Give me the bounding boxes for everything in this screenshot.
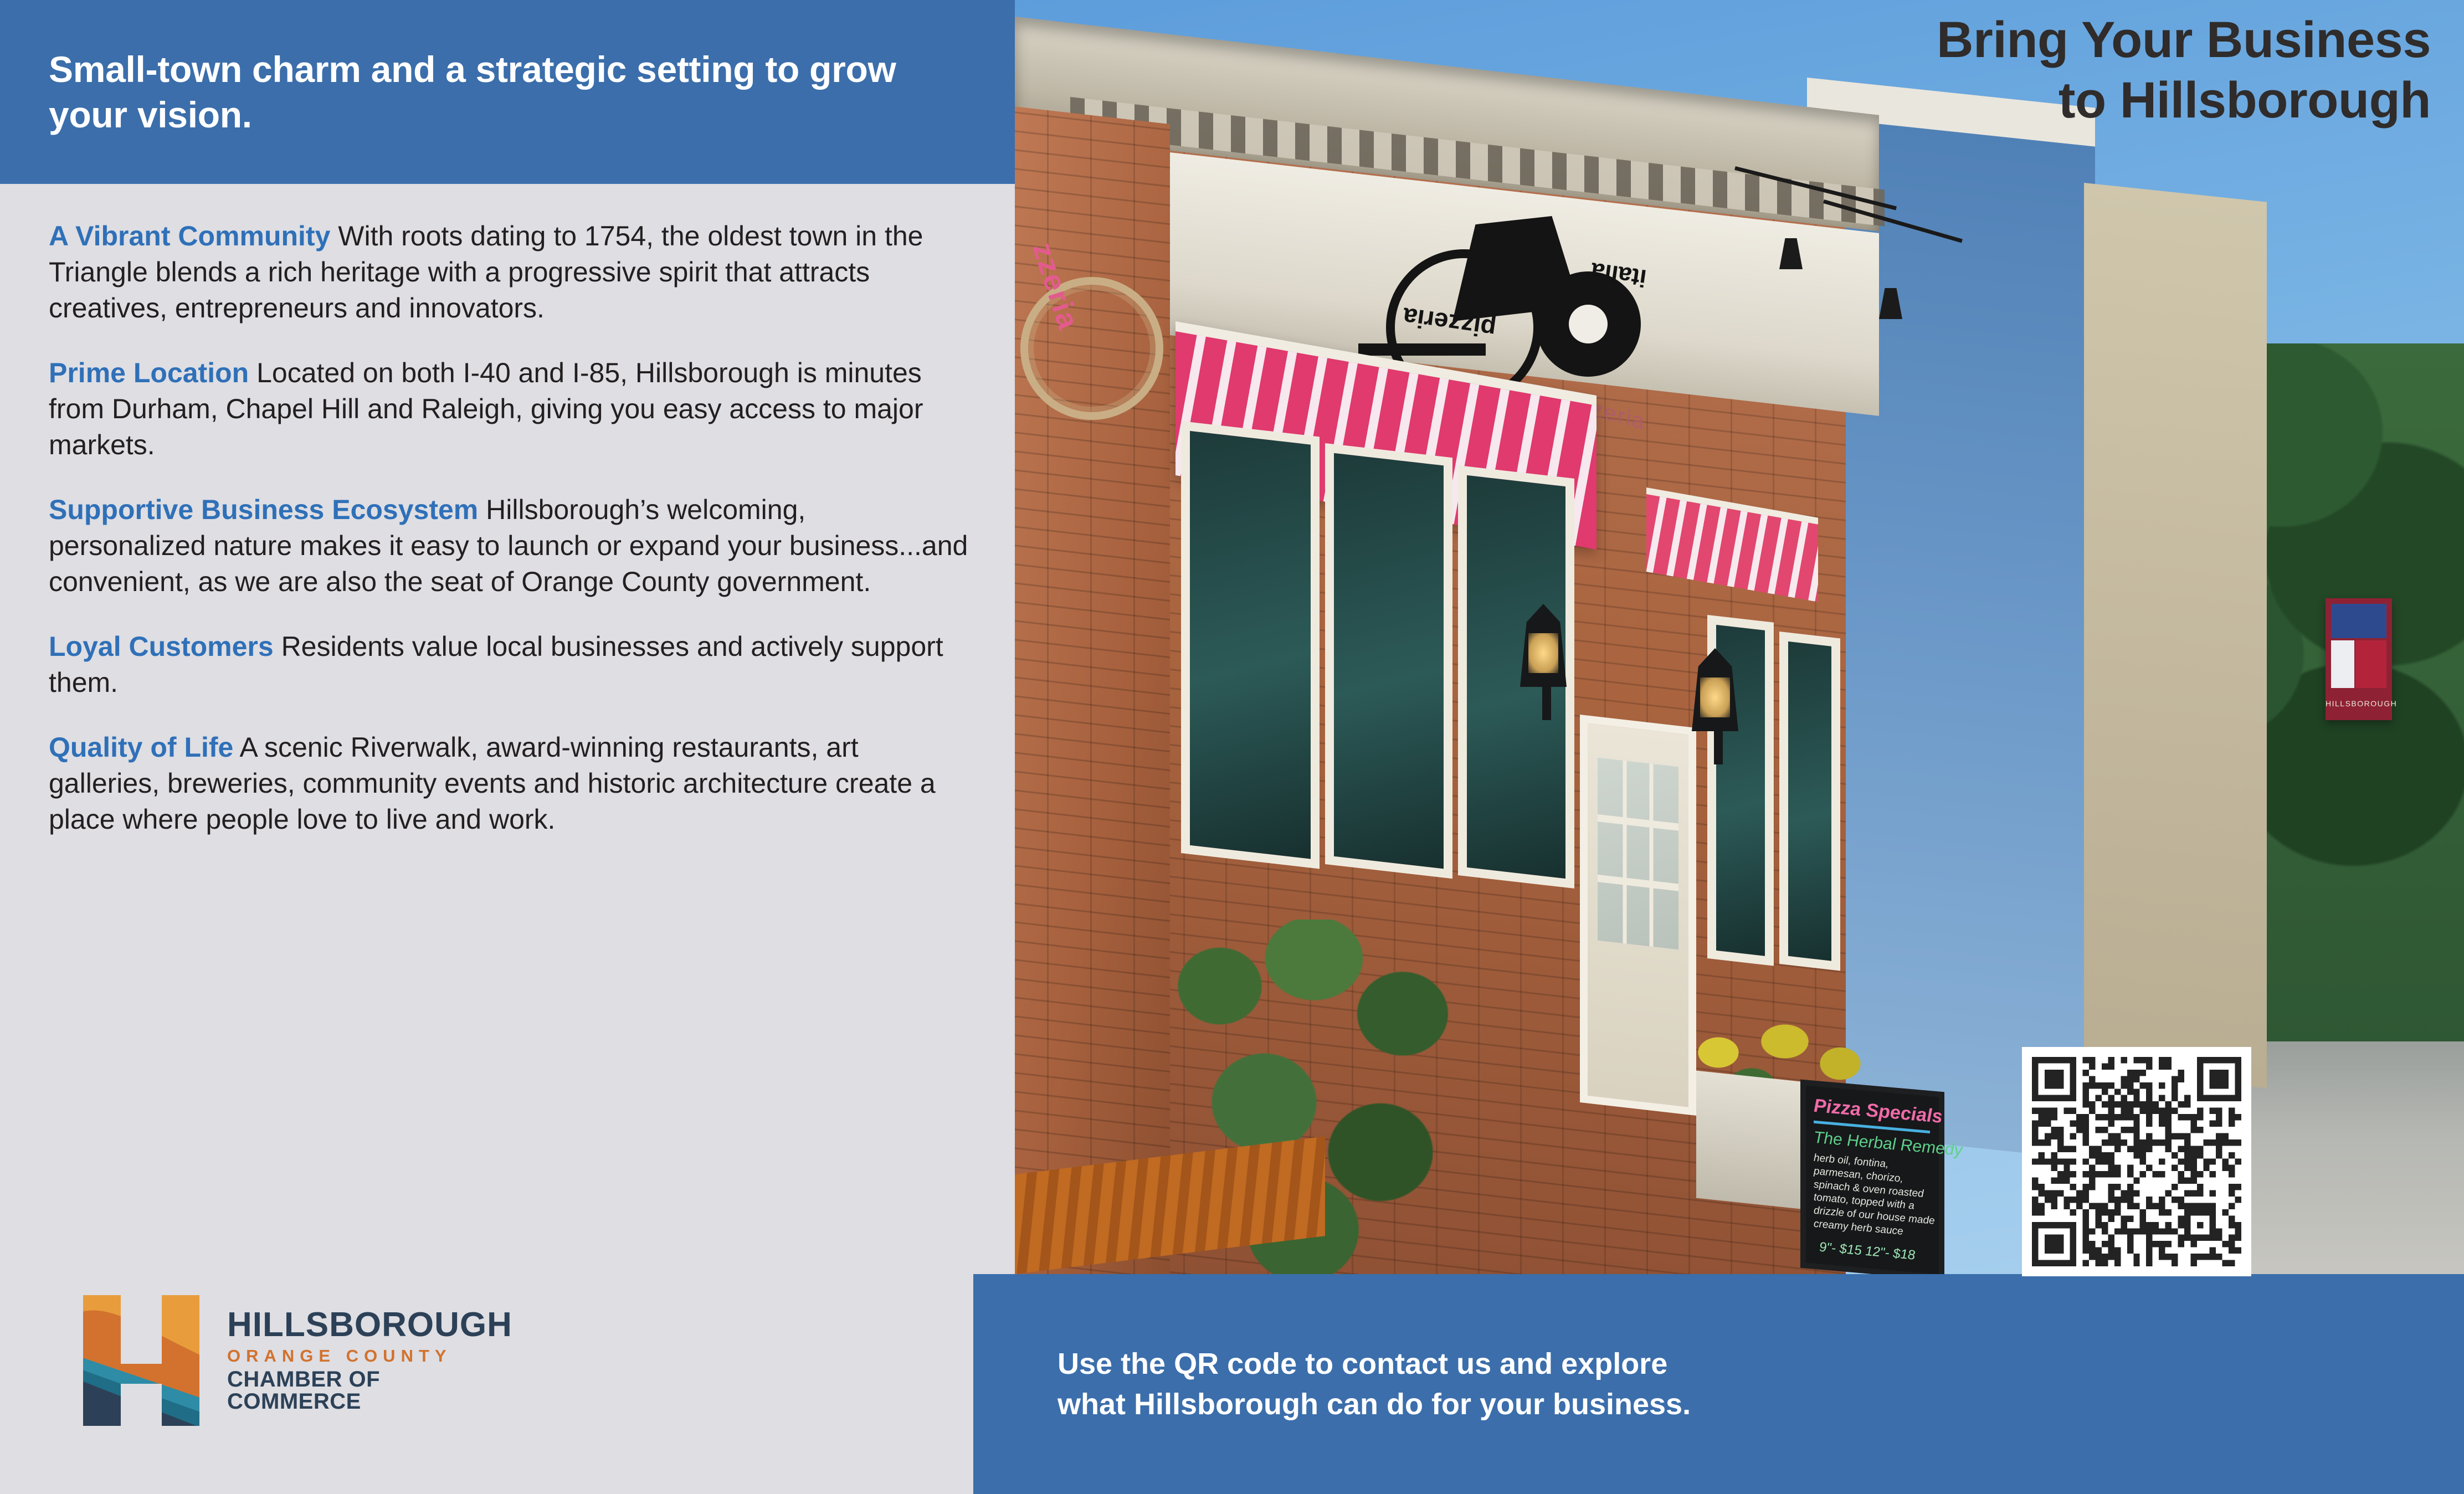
logo-line-hillsborough: HILLSBOROUGH [227,1308,512,1342]
storefront-window [1325,443,1452,879]
banner-label: HILLSBOROUGH [2326,699,2392,708]
chalkboard-sign: Pizza Specials The Herbal Remedy herb oi… [1800,1080,1944,1274]
nc-flag-white-bar [2331,640,2354,688]
chalkboard-price: 9"- $15 12"- $18 [1819,1240,1915,1264]
headline-text: Small-town charm and a strategic setting… [0,47,963,138]
tan-building [2084,183,2267,1089]
storefront-window [1181,421,1320,869]
gear-center-hole [1569,305,1608,343]
paragraph-lead: Loyal Customers [49,631,274,662]
cta-text: Use the QR code to contact us and explor… [973,1344,1691,1425]
chalkboard-description: herb oil, fontina, parmesan, chorizo, sp… [1814,1152,1941,1242]
qr-call-to-action-bar: Use the QR code to contact us and explor… [973,1274,2464,1494]
page-title-line-1: Bring Your Business [1567,10,2431,70]
paragraph-lead: A Vibrant Community [49,220,330,251]
chamber-logo: HILLSBOROUGH ORANGE COUNTY CHAMBER OF CO… [78,1291,499,1429]
cta-line-2: what Hillsborough can do for your busine… [1058,1384,1691,1425]
qr-code-canvas[interactable] [2032,1057,2241,1266]
left-info-panel: Small-town charm and a strategic setting… [0,0,1015,1494]
hillsborough-h-mark-icon [78,1291,205,1429]
qr-code[interactable] [2022,1047,2251,1276]
storefront-window [1779,632,1840,971]
nc-flag-red-bar [2355,640,2386,688]
paragraph-vibrant-community: A Vibrant Community With roots dating to… [49,218,968,326]
storefront-door [1580,715,1696,1116]
paragraph-quality-of-life: Quality of Life A scenic Riverwalk, awar… [49,730,968,838]
chamber-logo-text: HILLSBOROUGH ORANGE COUNTY CHAMBER OF CO… [227,1308,512,1413]
paragraph-loyal-customers: Loyal Customers Residents value local bu… [49,629,968,701]
paragraph-prime-location: Prime Location Located on both I-40 and … [49,355,968,463]
north-carolina-street-banner: HILLSBOROUGH [2326,598,2392,720]
page-title: Bring Your Business to Hillsborough [1567,10,2431,130]
headline-banner: Small-town charm and a strategic setting… [0,0,1050,184]
logo-line-chamber-of-commerce: CHAMBER OF COMMERCE [227,1368,512,1413]
cta-line-1: Use the QR code to contact us and explor… [1058,1344,1691,1384]
paragraph-lead: Supportive Business Ecosystem [49,494,478,525]
body-copy: A Vibrant Community With roots dating to… [49,218,968,838]
paragraph-lead: Prime Location [49,357,249,388]
page-title-line-2: to Hillsborough [1567,70,2431,131]
door-glass-panes [1598,758,1678,950]
logo-line-orange-county: ORANGE COUNTY [227,1347,512,1364]
paragraph-supportive-business-ecosystem: Supportive Business Ecosystem Hillsborou… [49,492,968,600]
paragraph-lead: Quality of Life [49,732,233,763]
nc-flag-hoist [2331,604,2386,638]
brochure-page: Small-town charm and a strategic setting… [0,0,2464,1494]
